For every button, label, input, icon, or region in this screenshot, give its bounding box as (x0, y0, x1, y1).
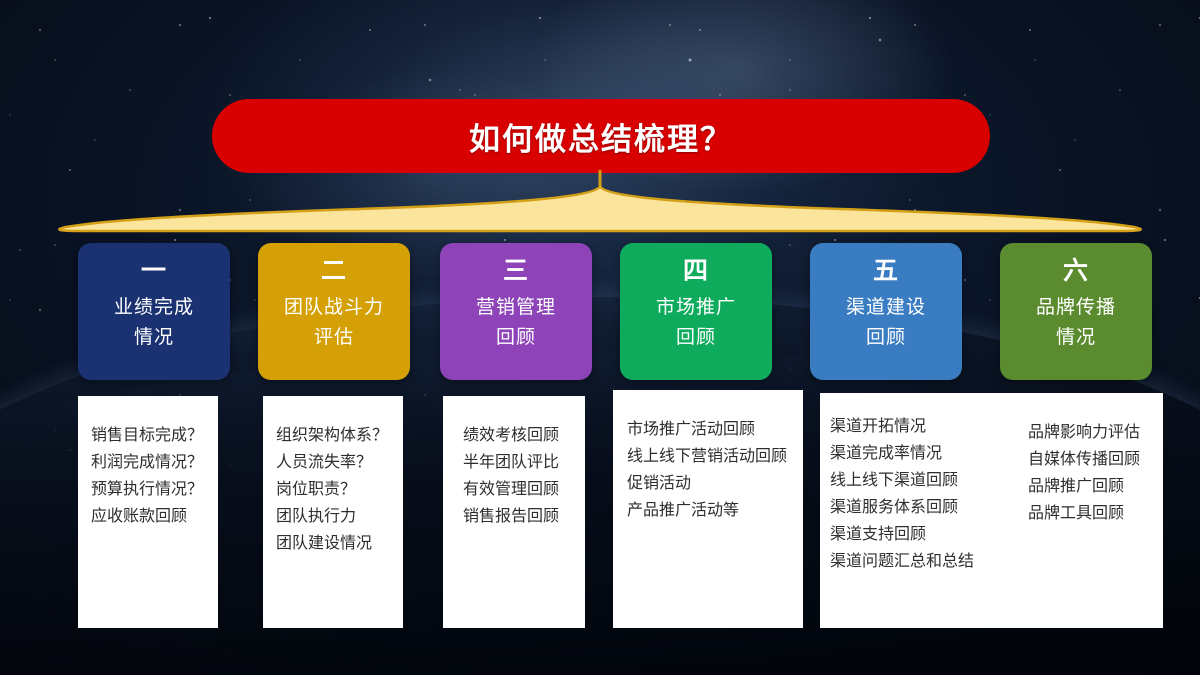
detail-item: 品牌工具回顾 (1028, 500, 1163, 527)
detail-item: 半年团队评比 (463, 449, 585, 476)
category-box-4[interactable]: 四 市场推广 回顾 (620, 243, 772, 380)
detail-card-4: 市场推广活动回顾 线上线下营销活动回顾 促销活动 产品推广活动等 (613, 390, 803, 628)
category-box-1[interactable]: 一 业绩完成 情况 (78, 243, 230, 380)
category-title-6-line2: 情况 (1036, 323, 1116, 353)
category-title-4: 市场推广 回顾 (656, 293, 736, 353)
detail-card-6: 品牌影响力评估 自媒体传播回顾 品牌推广回顾 品牌工具回顾 (1000, 393, 1163, 628)
detail-item: 组织架构体系？ (276, 422, 403, 449)
detail-item: 促销活动 (627, 470, 803, 497)
detail-item: 团队建设情况 (276, 530, 403, 557)
category-title-5-line2: 回顾 (846, 323, 926, 353)
category-number-1: 一 (141, 255, 167, 289)
category-title-4-line2: 回顾 (656, 323, 736, 353)
category-title-2-line1: 团队战斗力 (284, 293, 384, 323)
category-title-3-line2: 回顾 (476, 323, 556, 353)
detail-item: 岗位职责？ (276, 476, 403, 503)
detail-list-1: 销售目标完成？ 利润完成情况？ 预算执行情况？ 应收账款回顾 (78, 422, 218, 530)
detail-item: 销售报告回顾 (463, 503, 585, 530)
detail-item: 团队执行力 (276, 503, 403, 530)
detail-item: 市场推广活动回顾 (627, 416, 803, 443)
detail-list-4: 市场推广活动回顾 线上线下营销活动回顾 促销活动 产品推广活动等 (613, 416, 803, 524)
category-title-3-line1: 营销管理 (476, 293, 556, 323)
detail-list-2: 组织架构体系？ 人员流失率？ 岗位职责？ 团队执行力 团队建设情况 (263, 422, 403, 557)
category-box-2[interactable]: 二 团队战斗力 评估 (258, 243, 410, 380)
category-title-6-line1: 品牌传播 (1036, 293, 1116, 323)
category-number-5: 五 (873, 255, 899, 289)
category-title-2: 团队战斗力 评估 (284, 293, 384, 353)
category-title-2-line2: 评估 (284, 323, 384, 353)
detail-list-6: 品牌影响力评估 自媒体传播回顾 品牌推广回顾 品牌工具回顾 (1000, 419, 1163, 527)
slide-canvas: 如何做总结梳理？ 一 业绩完成 情况 销售目标完成？ 利润完成情况？ 预算执行情… (0, 0, 1200, 675)
detail-item: 品牌推广回顾 (1028, 473, 1163, 500)
detail-item: 应收账款回顾 (91, 503, 218, 530)
category-title-1-line2: 情况 (114, 323, 194, 353)
detail-item: 人员流失率？ (276, 449, 403, 476)
detail-list-5: 渠道开拓情况 渠道完成率情况 线上线下渠道回顾 渠道服务体系回顾 渠道支持回顾 … (820, 413, 1000, 575)
detail-item: 线上线下营销活动回顾 (627, 443, 803, 470)
detail-item: 品牌影响力评估 (1028, 419, 1163, 446)
detail-card-2: 组织架构体系？ 人员流失率？ 岗位职责？ 团队执行力 团队建设情况 (263, 396, 403, 628)
detail-list-3: 绩效考核回顾 半年团队评比 有效管理回顾 销售报告回顾 (443, 422, 585, 530)
category-box-5[interactable]: 五 渠道建设 回顾 (810, 243, 962, 380)
detail-item: 自媒体传播回顾 (1028, 446, 1163, 473)
category-title-1-line1: 业绩完成 (114, 293, 194, 323)
category-number-6: 六 (1063, 255, 1089, 289)
detail-item: 绩效考核回顾 (463, 422, 585, 449)
category-number-4: 四 (683, 255, 709, 289)
detail-item: 产品推广活动等 (627, 497, 803, 524)
detail-card-5: 渠道开拓情况 渠道完成率情况 线上线下渠道回顾 渠道服务体系回顾 渠道支持回顾 … (820, 393, 1000, 628)
detail-item: 渠道支持回顾 (830, 521, 1000, 548)
category-number-3: 三 (503, 255, 529, 289)
detail-card-1: 销售目标完成？ 利润完成情况？ 预算执行情况？ 应收账款回顾 (78, 396, 218, 628)
category-title-4-line1: 市场推广 (656, 293, 736, 323)
detail-card-3: 绩效考核回顾 半年团队评比 有效管理回顾 销售报告回顾 (443, 396, 585, 628)
detail-item: 有效管理回顾 (463, 476, 585, 503)
detail-item: 预算执行情况？ (91, 476, 218, 503)
category-title-5: 渠道建设 回顾 (846, 293, 926, 353)
detail-item: 销售目标完成？ (91, 422, 218, 449)
category-box-6[interactable]: 六 品牌传播 情况 (1000, 243, 1152, 380)
detail-item: 渠道问题汇总和总结 (830, 548, 1000, 575)
columns-container: 一 业绩完成 情况 销售目标完成？ 利润完成情况？ 预算执行情况？ 应收账款回顾… (0, 0, 1200, 675)
category-number-2: 二 (321, 255, 347, 289)
category-title-3: 营销管理 回顾 (476, 293, 556, 353)
category-box-3[interactable]: 三 营销管理 回顾 (440, 243, 592, 380)
category-title-5-line1: 渠道建设 (846, 293, 926, 323)
category-title-6: 品牌传播 情况 (1036, 293, 1116, 353)
detail-item: 渠道服务体系回顾 (830, 494, 1000, 521)
detail-item: 线上线下渠道回顾 (830, 467, 1000, 494)
category-title-1: 业绩完成 情况 (114, 293, 194, 353)
detail-item: 渠道完成率情况 (830, 440, 1000, 467)
detail-item: 渠道开拓情况 (830, 413, 1000, 440)
detail-item: 利润完成情况？ (91, 449, 218, 476)
